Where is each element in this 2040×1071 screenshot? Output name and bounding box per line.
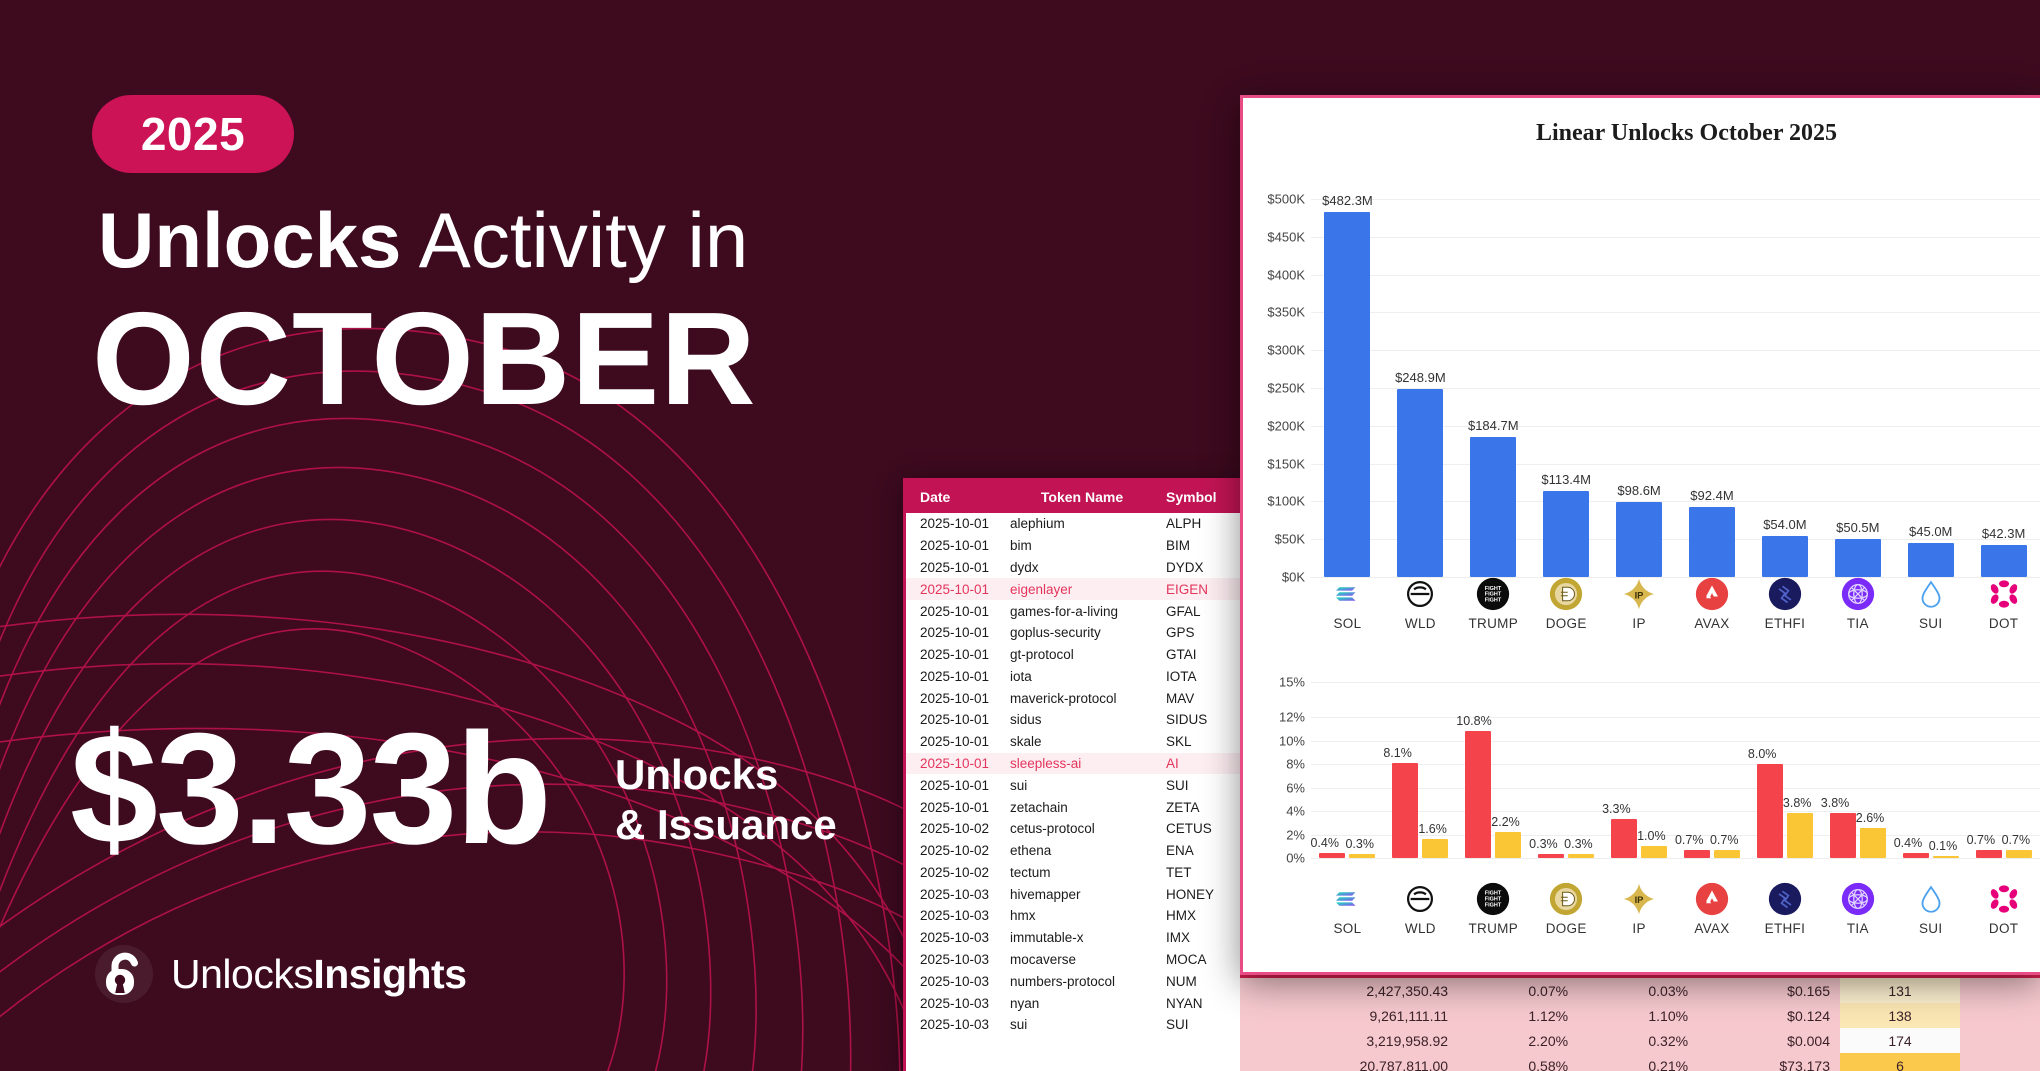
x-axis-item: IPIP (1603, 577, 1676, 631)
bar-ethfi[interactable] (1762, 536, 1808, 577)
bar-sol-issuance-pct[interactable] (1349, 854, 1375, 858)
svg-text:FIGHT: FIGHT (1485, 598, 1502, 604)
bar-value-label: 3.8% (1783, 796, 1812, 810)
svg-text:FIGHT: FIGHT (1485, 586, 1502, 592)
cell-symbol: MOCA (1162, 949, 1240, 971)
bar-column[interactable]: $54.0M (1748, 199, 1821, 577)
cell-date: 2025-10-01 (906, 709, 1002, 731)
cell-symbol: IMX (1162, 927, 1240, 949)
cell-token-name: games-for-a-living (1002, 600, 1162, 622)
x-axis-label: SUI (1919, 921, 1942, 936)
x-axis-item: DOT (1967, 577, 2040, 631)
bar-wrapper: 0.7% (1976, 850, 2002, 858)
cell-date: 2025-10-02 (906, 840, 1002, 862)
x-axis-label: TRUMP (1469, 616, 1519, 631)
bar-value-label: 8.1% (1383, 746, 1412, 760)
cell-symbol: BIM (1162, 535, 1240, 557)
cell-date: 2025-10-03 (906, 949, 1002, 971)
bar-value-label: 0.1% (1929, 839, 1958, 853)
bar-value-label: $113.4M (1541, 472, 1591, 487)
bar-wrapper: 3.8% (1830, 813, 1856, 858)
y-axis-tick: $50K (1275, 532, 1305, 547)
cell-date: 2025-10-01 (906, 600, 1002, 622)
mini-cell-count: 174 (1840, 1028, 1960, 1053)
cell-date: 2025-10-03 (906, 883, 1002, 905)
y-axis-tick: 8% (1286, 757, 1305, 772)
cell-date: 2025-10-01 (906, 731, 1002, 753)
cell-date: 2025-10-02 (906, 862, 1002, 884)
cell-token-name: zetachain (1002, 796, 1162, 818)
cell-date: 2025-10-01 (906, 513, 1002, 535)
wld-icon (1403, 882, 1437, 916)
token-table: Date Token Name Symbol 2025-10-01alephiu… (906, 481, 1240, 1036)
mini-table-row: 2,427,350.430.07%0.03%$0.165131 (1240, 978, 1960, 1003)
bar-value-label: 0.3% (1345, 837, 1374, 851)
cell-token-name: dydx (1002, 557, 1162, 579)
table-row[interactable]: 2025-10-01maverick-protocolMAV (906, 687, 1240, 709)
x-axis-item: FIGHTFIGHTFIGHTTRUMP (1457, 577, 1530, 631)
bar-wrapper: 1.6% (1422, 839, 1448, 858)
bar-sui-issuance-pct[interactable] (1933, 856, 1959, 858)
x-axis-item: AVAX (1676, 577, 1749, 631)
y-axis-tick: $400K (1267, 267, 1305, 282)
cell-date: 2025-10-01 (906, 557, 1002, 579)
cell-symbol: EIGEN (1162, 578, 1240, 600)
x-axis-item: SOL (1311, 882, 1384, 936)
y-axis-tick: $200K (1267, 418, 1305, 433)
x-axis-item: AVAX (1676, 882, 1749, 936)
mini-cell-pct1: 0.07% (1458, 978, 1578, 1003)
cell-symbol: GPS (1162, 622, 1240, 644)
bar-wrapper: 0.3% (1538, 854, 1564, 858)
bar-wrapper: 2.2% (1495, 832, 1521, 858)
x-axis-label: WLD (1405, 921, 1436, 936)
bar-value-label: $482.3M (1322, 193, 1373, 208)
x-axis-label: DOGE (1546, 616, 1587, 631)
mini-cell-pct2: 0.03% (1578, 978, 1698, 1003)
sui-icon (1914, 882, 1948, 916)
bar-column[interactable]: $482.3M (1311, 199, 1384, 577)
mini-cell-count: 131 (1840, 978, 1960, 1003)
brand-logo-text: UnlocksInsights (171, 951, 467, 998)
cell-symbol: ENA (1162, 840, 1240, 862)
token-table-head: Date Token Name Symbol (906, 481, 1240, 513)
cell-date: 2025-10-01 (906, 665, 1002, 687)
cell-token-name: sleepless-ai (1002, 753, 1162, 775)
table-row[interactable]: 2025-10-01skaleSKL (906, 731, 1240, 753)
bar-value-label: $248.9M (1395, 370, 1446, 385)
bar-value-label: 0.4% (1310, 836, 1339, 850)
bar-dot[interactable] (1981, 545, 2027, 577)
x-axis-item: ETHFI (1748, 882, 1821, 936)
mini-cell-price: $0.004 (1698, 1028, 1840, 1053)
table-row[interactable]: 2025-10-03hmxHMX (906, 905, 1240, 927)
mini-cell-count: 138 (1840, 1003, 1960, 1028)
bar-group[interactable]: 0.7%0.7% (1676, 682, 1749, 858)
table-row[interactable]: 2025-10-02ethenaENA (906, 840, 1240, 862)
cell-token-name: cetus-protocol (1002, 818, 1162, 840)
bar-value-label: 0.7% (1675, 833, 1704, 847)
bar-ip-issuance-pct[interactable] (1641, 846, 1667, 858)
bar-group[interactable]: 3.3%1.0% (1603, 682, 1676, 858)
y-axis-tick: $300K (1267, 343, 1305, 358)
wld-icon (1403, 577, 1437, 611)
bottom-chart-x-axis: SOLWLDFIGHTFIGHTFIGHTTRUMPDOGEIPIPAVAXET… (1311, 882, 2040, 936)
cell-token-name: mocaverse (1002, 949, 1162, 971)
doge-icon (1549, 577, 1583, 611)
cell-symbol: GFAL (1162, 600, 1240, 622)
table-row[interactable]: 2025-10-01alephiumALPH (906, 513, 1240, 535)
bar-group[interactable]: 10.8%2.2% (1457, 682, 1530, 858)
charts-card: Linear Unlocks October 2025 $500K$450K$4… (1240, 95, 2040, 975)
bar-dot-unlocks-pct[interactable] (1976, 850, 2002, 858)
mini-cell-pct1: 0.58% (1458, 1053, 1578, 1071)
total-value: $3.33b (70, 710, 550, 868)
token-table-card[interactable]: Date Token Name Symbol 2025-10-01alephiu… (903, 478, 1243, 1071)
x-axis-label: ETHFI (1765, 921, 1806, 936)
bar-wrapper: 10.8% (1465, 731, 1491, 858)
top-chart-x-axis: SOLWLDFIGHTFIGHTFIGHTTRUMPDOGEIPIPAVAXET… (1311, 577, 2040, 631)
x-axis-label: TIA (1847, 616, 1869, 631)
mini-cell-amount: 20,787,811.00 (1240, 1053, 1458, 1071)
token-table-body: 2025-10-01alephiumALPH2025-10-01bimBIM20… (906, 513, 1240, 1036)
bar-value-label: 1.0% (1637, 829, 1666, 843)
bar-ip[interactable] (1616, 502, 1662, 577)
cell-symbol: AI (1162, 753, 1240, 775)
cell-date: 2025-10-02 (906, 818, 1002, 840)
bar-wrapper: 1.0% (1641, 846, 1667, 858)
x-axis-item: SUI (1894, 577, 1967, 631)
table-row[interactable]: 2025-10-03mocaverseMOCA (906, 949, 1240, 971)
table-row[interactable]: 2025-10-01goplus-securityGPS (906, 622, 1240, 644)
bar-tia-unlocks-pct[interactable] (1830, 813, 1856, 858)
table-row[interactable]: 2025-10-03suiSUI (906, 1014, 1240, 1036)
bar-group[interactable]: 8.1%1.6% (1384, 682, 1457, 858)
avax-icon (1695, 882, 1729, 916)
year-badge: 2025 (92, 95, 294, 173)
x-axis-label: WLD (1405, 616, 1436, 631)
bar-column[interactable]: $184.7M (1457, 199, 1530, 577)
bar-value-label: 2.6% (1856, 811, 1885, 825)
y-axis-tick: 6% (1286, 780, 1305, 795)
cell-token-name: alephium (1002, 513, 1162, 535)
caption-line-2: & Issuance (615, 800, 837, 850)
doge-icon (1549, 882, 1583, 916)
y-axis-tick: $100K (1267, 494, 1305, 509)
bar-trump-issuance-pct[interactable] (1495, 832, 1521, 858)
x-axis-item: DOT (1967, 882, 2040, 936)
cell-symbol: HONEY (1162, 883, 1240, 905)
sol-icon (1330, 577, 1364, 611)
cell-token-name: goplus-security (1002, 622, 1162, 644)
cell-date: 2025-10-01 (906, 774, 1002, 796)
bar-value-label: $98.6M (1617, 483, 1660, 498)
table-row[interactable]: 2025-10-01bimBIM (906, 535, 1240, 557)
gridline (1311, 858, 2040, 859)
cell-token-name: sui (1002, 774, 1162, 796)
x-axis-item: IPIP (1603, 882, 1676, 936)
cell-symbol: CETUS (1162, 818, 1240, 840)
bar-value-label: 3.8% (1821, 796, 1850, 810)
bar-sui-unlocks-pct[interactable] (1903, 853, 1929, 858)
bar-wrapper: 0.4% (1319, 853, 1345, 858)
y-axis-tick: $500K (1267, 192, 1305, 207)
bar-value-label: 8.0% (1748, 747, 1777, 761)
cell-date: 2025-10-01 (906, 578, 1002, 600)
x-axis-label: SOL (1333, 921, 1361, 936)
chart-title: Linear Unlocks October 2025 (1243, 98, 2040, 147)
y-axis-tick: $250K (1267, 381, 1305, 396)
bar-column[interactable]: $42.3M (1967, 199, 2040, 577)
bar-tia[interactable] (1835, 539, 1881, 577)
table-row[interactable]: 2025-10-02cetus-protocolCETUS (906, 818, 1240, 840)
hero-panel: 2025 Unlocks Activity in OCTOBER $3.33b … (0, 0, 960, 1071)
cell-token-name: hivemapper (1002, 883, 1162, 905)
svg-text:FIGHT: FIGHT (1485, 891, 1502, 897)
bar-sol-unlocks-pct[interactable] (1319, 853, 1345, 858)
x-axis-label: DOT (1989, 616, 2018, 631)
table-row[interactable]: 2025-10-01games-for-a-livingGFAL (906, 600, 1240, 622)
x-axis-item: TIA (1821, 882, 1894, 936)
bar-avax-issuance-pct[interactable] (1714, 850, 1740, 858)
bar-wrapper: 2.6% (1860, 828, 1886, 859)
svg-text:FIGHT: FIGHT (1485, 903, 1502, 909)
cell-symbol: SUI (1162, 1014, 1240, 1036)
bar-wrapper: 0.7% (1714, 850, 1740, 858)
open-padlock-icon (95, 945, 153, 1003)
cell-token-name: numbers-protocol (1002, 970, 1162, 992)
mini-data-table: 2,427,350.430.07%0.03%$0.1651319,261,111… (1240, 978, 1960, 1071)
table-row[interactable]: 2025-10-03numbers-protocolNUM (906, 970, 1240, 992)
mini-table-row: 3,219,958.922.20%0.32%$0.004174 (1240, 1028, 1960, 1053)
bar-value-label: $92.4M (1690, 488, 1733, 503)
bar-value-label: 0.3% (1529, 837, 1558, 851)
x-axis-label: TIA (1847, 921, 1869, 936)
table-row[interactable]: 2025-10-03immutable-xIMX (906, 927, 1240, 949)
linear-unlocks-bar-chart: $500K$450K$400K$350K$300K$250K$200K$150K… (1243, 147, 2040, 632)
y-axis-tick: $350K (1267, 305, 1305, 320)
bar-wld-issuance-pct[interactable] (1422, 839, 1448, 858)
y-axis-tick: 2% (1286, 827, 1305, 842)
bar-doge-issuance-pct[interactable] (1568, 854, 1594, 858)
x-axis-label: ETHFI (1765, 616, 1806, 631)
cell-date: 2025-10-01 (906, 535, 1002, 557)
bar-tia-issuance-pct[interactable] (1860, 828, 1886, 859)
mini-cell-pct1: 2.20% (1458, 1028, 1578, 1053)
table-row[interactable]: 2025-10-01sidusSIDUS (906, 709, 1240, 731)
x-axis-item: WLD (1384, 882, 1457, 936)
bar-dot-issuance-pct[interactable] (2006, 850, 2032, 858)
bar-value-label: 10.8% (1456, 714, 1491, 728)
table-row[interactable]: 2025-10-01zetachainZETA (906, 796, 1240, 818)
bar-column[interactable]: $248.9M (1384, 199, 1457, 577)
bar-doge[interactable] (1543, 491, 1589, 577)
y-axis-tick: $450K (1267, 229, 1305, 244)
bar-value-label: 0.4% (1894, 836, 1923, 850)
bar-value-label: 0.7% (1710, 833, 1739, 847)
cell-symbol: SUI (1162, 774, 1240, 796)
bar-doge-unlocks-pct[interactable] (1538, 854, 1564, 858)
unlock-percentage-bar-chart: 15%12%10%8%6%4%2%0% 0.4%0.3%8.1%1.6%10.8… (1243, 664, 2040, 975)
cell-token-name: immutable-x (1002, 927, 1162, 949)
page-title: Unlocks Activity in (98, 200, 748, 282)
x-axis-item: DOGE (1530, 577, 1603, 631)
mini-cell-price: $0.165 (1698, 978, 1840, 1003)
dot-icon (1987, 882, 2021, 916)
bar-ip-unlocks-pct[interactable] (1611, 819, 1637, 858)
top-chart-plot-area: $500K$450K$400K$350K$300K$250K$200K$150K… (1311, 199, 2040, 632)
mini-table-row: 20,787,811.000.58%0.21%$73.1736 (1240, 1053, 1960, 1071)
bar-column[interactable]: $92.4M (1676, 199, 1749, 577)
column-header-date[interactable]: Date (906, 481, 1002, 513)
mini-cell-pct1: 1.12% (1458, 1003, 1578, 1028)
bar-wrapper: 8.0% (1757, 764, 1783, 858)
unlock-details-table[interactable]: 2,427,350.430.07%0.03%$0.1651319,261,111… (1240, 975, 2040, 1071)
bar-trump-unlocks-pct[interactable] (1465, 731, 1491, 858)
table-row[interactable]: 2025-10-03hivemapperHONEY (906, 883, 1240, 905)
table-row[interactable]: 2025-10-03nyanNYAN (906, 992, 1240, 1014)
brand-logo-unlocks: Unlocks (171, 951, 313, 997)
bar-sol[interactable] (1324, 212, 1370, 577)
cell-symbol: DYDX (1162, 557, 1240, 579)
x-axis-label: AVAX (1694, 921, 1729, 936)
bar-group[interactable]: 3.8%2.6% (1821, 682, 1894, 858)
table-row[interactable]: 2025-10-01sleepless-aiAI (906, 753, 1240, 775)
bar-group[interactable]: 0.4%0.1% (1894, 682, 1967, 858)
brand-logo-insights: Insights (313, 951, 466, 997)
avax-icon (1695, 577, 1729, 611)
cell-date: 2025-10-03 (906, 905, 1002, 927)
bar-ethfi-issuance-pct[interactable] (1787, 813, 1813, 858)
cell-token-name: eigenlayer (1002, 578, 1162, 600)
x-axis-label: IP (1632, 921, 1645, 936)
bar-avax[interactable] (1689, 507, 1735, 577)
cell-date: 2025-10-01 (906, 687, 1002, 709)
column-header-symbol[interactable]: Symbol (1162, 481, 1240, 513)
svg-text:IP: IP (1635, 895, 1644, 905)
bar-value-label: 0.3% (1564, 837, 1593, 851)
sol-icon (1330, 882, 1364, 916)
bar-column[interactable]: $45.0M (1894, 199, 1967, 577)
y-axis-tick: 4% (1286, 804, 1305, 819)
bar-group[interactable]: 8.0%3.8% (1748, 682, 1821, 858)
ethfi-icon (1768, 577, 1802, 611)
cell-symbol: ZETA (1162, 796, 1240, 818)
x-axis-label: IP (1632, 616, 1645, 631)
cell-token-name: iota (1002, 665, 1162, 687)
total-value-caption: Unlocks & Issuance (615, 750, 837, 851)
cell-symbol: HMX (1162, 905, 1240, 927)
svg-text:FIGHT: FIGHT (1485, 897, 1502, 903)
cell-date: 2025-10-03 (906, 927, 1002, 949)
bar-value-label: $42.3M (1982, 526, 2025, 541)
trump-icon: FIGHTFIGHTFIGHT (1476, 882, 1510, 916)
cell-token-name: ethena (1002, 840, 1162, 862)
bar-column[interactable]: $113.4M (1530, 199, 1603, 577)
cell-token-name: skale (1002, 731, 1162, 753)
tia-icon (1841, 882, 1875, 916)
y-axis-tick: 15% (1279, 675, 1305, 690)
y-axis-tick: $150K (1267, 456, 1305, 471)
bar-wrapper: 3.8% (1787, 813, 1813, 858)
bottom-chart-plot-area: 15%12%10%8%6%4%2%0% 0.4%0.3%8.1%1.6%10.8… (1311, 682, 2040, 876)
mini-cell-pct2: 1.10% (1578, 1003, 1698, 1028)
bar-column[interactable]: $98.6M (1603, 199, 1676, 577)
table-row[interactable]: 2025-10-01gt-protocolGTAI (906, 644, 1240, 666)
bar-wrapper: 0.1% (1933, 856, 1959, 858)
bar-wld-unlocks-pct[interactable] (1392, 763, 1418, 858)
cell-symbol: NUM (1162, 970, 1240, 992)
svg-text:FIGHT: FIGHT (1485, 592, 1502, 598)
cell-date: 2025-10-01 (906, 753, 1002, 775)
bar-sui[interactable] (1908, 543, 1954, 577)
cell-symbol: ALPH (1162, 513, 1240, 535)
x-axis-item: ETHFI (1748, 577, 1821, 631)
mini-data-table-body: 2,427,350.430.07%0.03%$0.1651319,261,111… (1240, 978, 1960, 1071)
mini-cell-amount: 2,427,350.43 (1240, 978, 1458, 1003)
bar-value-label: $50.5M (1836, 520, 1879, 535)
cell-token-name: hmx (1002, 905, 1162, 927)
top-chart-bars: $482.3M$248.9M$184.7M$113.4M$98.6M$92.4M… (1311, 199, 2040, 577)
headline-bold: Unlocks (98, 196, 401, 284)
cell-symbol: TET (1162, 862, 1240, 884)
table-row[interactable]: 2025-10-01suiSUI (906, 774, 1240, 796)
y-axis-tick: 0% (1286, 851, 1305, 866)
bar-ethfi-unlocks-pct[interactable] (1757, 764, 1783, 858)
x-axis-item: SOL (1311, 577, 1384, 631)
bar-wld[interactable] (1397, 389, 1443, 577)
bar-column[interactable]: $50.5M (1821, 199, 1894, 577)
caption-line-1: Unlocks (615, 750, 837, 800)
bar-wrapper: 0.7% (1684, 850, 1710, 858)
table-row[interactable]: 2025-10-01iotaIOTA (906, 665, 1240, 687)
mini-cell-pct2: 0.32% (1578, 1028, 1698, 1053)
cell-date: 2025-10-03 (906, 1014, 1002, 1036)
bar-wrapper: 0.4% (1903, 853, 1929, 858)
cell-token-name: bim (1002, 535, 1162, 557)
column-header-token-name[interactable]: Token Name (1002, 481, 1162, 513)
cell-date: 2025-10-01 (906, 644, 1002, 666)
bar-wrapper: 0.3% (1568, 854, 1594, 858)
bar-group[interactable]: 0.4%0.3% (1311, 682, 1384, 858)
bar-avax-unlocks-pct[interactable] (1684, 850, 1710, 858)
cell-date: 2025-10-03 (906, 992, 1002, 1014)
mini-cell-pct2: 0.21% (1578, 1053, 1698, 1071)
cell-token-name: tectum (1002, 862, 1162, 884)
bar-trump[interactable] (1470, 437, 1516, 577)
cell-token-name: nyan (1002, 992, 1162, 1014)
table-row[interactable]: 2025-10-02tectumTET (906, 862, 1240, 884)
token-table-header-row: Date Token Name Symbol (906, 481, 1240, 513)
cell-date: 2025-10-01 (906, 622, 1002, 644)
cell-token-name: sidus (1002, 709, 1162, 731)
table-row[interactable]: 2025-10-01dydxDYDX (906, 557, 1240, 579)
mini-cell-amount: 3,219,958.92 (1240, 1028, 1458, 1053)
bar-group[interactable]: 0.3%0.3% (1530, 682, 1603, 858)
ethfi-icon (1768, 882, 1802, 916)
headline-month: OCTOBER (92, 290, 757, 429)
cell-symbol: MAV (1162, 687, 1240, 709)
x-axis-label: SOL (1333, 616, 1361, 631)
cell-symbol: NYAN (1162, 992, 1240, 1014)
cell-token-name: sui (1002, 1014, 1162, 1036)
x-axis-label: TRUMP (1469, 921, 1519, 936)
table-row[interactable]: 2025-10-01eigenlayerEIGEN (906, 578, 1240, 600)
bar-group[interactable]: 0.7%0.7% (1967, 682, 2040, 858)
x-axis-item: DOGE (1530, 882, 1603, 936)
mini-cell-count: 6 (1840, 1053, 1960, 1071)
bar-value-label: 0.7% (2002, 833, 2031, 847)
